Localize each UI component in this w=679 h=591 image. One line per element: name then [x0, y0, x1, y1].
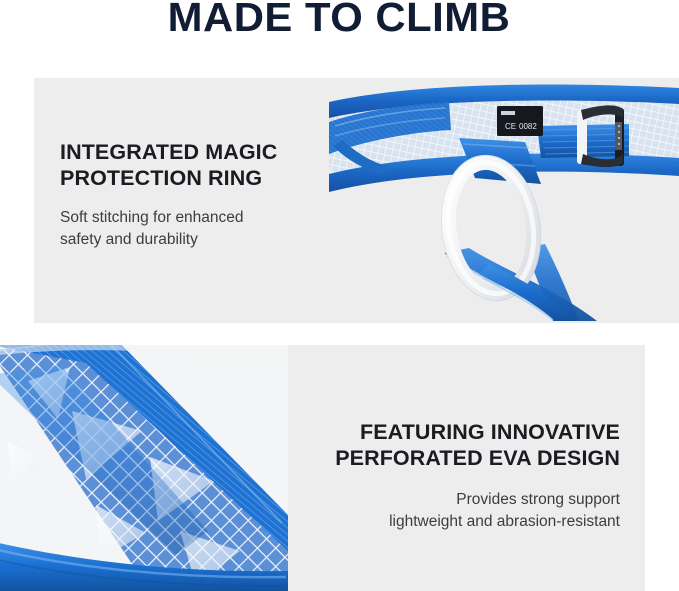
feature-panel-protection-ring: CE 0082	[34, 78, 679, 323]
harness-waistbelt-illustration: CE 0082	[329, 78, 679, 323]
subcopy-line-1: Provides strong support	[260, 489, 620, 511]
svg-text:CE: CE	[505, 122, 516, 131]
headline-line-2: PERFORATED EVA DESIGN	[260, 446, 620, 472]
harness-waistbelt-photo: CE 0082	[329, 78, 679, 323]
svg-text:0082: 0082	[519, 122, 537, 131]
product-feature-page: MADE TO CLIMB	[0, 0, 679, 591]
subcopy-line-2: lightweight and abrasion-resistant	[260, 511, 620, 533]
ce-uiaa-label-tag: CE 0082	[497, 106, 543, 136]
protection-ring-subcopy: Soft stitching for enhanced safety and d…	[60, 207, 350, 251]
eva-design-subcopy: Provides strong support lightweight and …	[260, 489, 620, 533]
perforated-eva-illustration	[0, 345, 288, 591]
banner: MADE TO CLIMB	[0, 0, 679, 41]
headline-line-1: INTEGRATED MAGIC	[60, 140, 350, 166]
protection-ring-copy: INTEGRATED MAGIC PROTECTION RING Soft st…	[60, 140, 350, 251]
perforated-eva-photo	[0, 345, 288, 591]
subcopy-line-2: safety and durability	[60, 229, 350, 251]
eva-design-copy: FEATURING INNOVATIVE PERFORATED EVA DESI…	[260, 420, 620, 533]
eva-design-headline: FEATURING INNOVATIVE PERFORATED EVA DESI…	[260, 420, 620, 472]
protection-ring-headline: INTEGRATED MAGIC PROTECTION RING	[60, 140, 350, 192]
feature-panel-eva-design: FEATURING INNOVATIVE PERFORATED EVA DESI…	[0, 345, 645, 591]
headline-line-2: PROTECTION RING	[60, 166, 350, 192]
subcopy-line-1: Soft stitching for enhanced	[60, 207, 350, 229]
page-title: MADE TO CLIMB	[168, 0, 511, 41]
headline-line-1: FEATURING INNOVATIVE	[260, 420, 620, 446]
